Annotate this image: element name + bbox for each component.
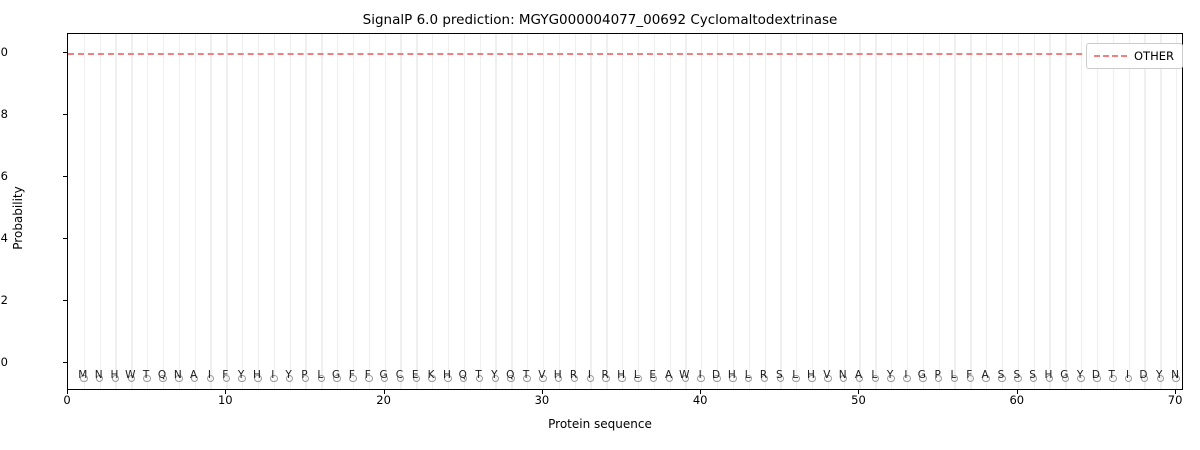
residue-letter: N: [839, 370, 847, 381]
residue-letter: T: [143, 370, 149, 381]
y-axis-label: Probability: [11, 118, 25, 318]
residue-letter: I: [208, 370, 211, 381]
residue-letter: Y: [238, 370, 244, 381]
page-title: SignalP 6.0 prediction: MGYG000004077_00…: [0, 12, 1200, 28]
residue-marker-layer: [68, 34, 1182, 389]
residue-letter: D: [712, 370, 720, 381]
residue-letter: H: [617, 370, 625, 381]
residue-letter: A: [190, 370, 197, 381]
residue-letter: L: [745, 370, 751, 381]
residue-letter: Q: [158, 370, 166, 381]
x-tick-label: 40: [693, 393, 708, 407]
residue-letter: W: [679, 370, 689, 381]
residue-letter: R: [570, 370, 577, 381]
residue-letter: L: [871, 370, 877, 381]
residue-letter: R: [760, 370, 767, 381]
residue-letter: H: [728, 370, 736, 381]
residue-letter: R: [602, 370, 609, 381]
residue-letter: N: [1171, 370, 1179, 381]
residue-letter: L: [792, 370, 798, 381]
residue-letter: L: [951, 370, 957, 381]
y-tick-label: 0.8: [0, 107, 8, 121]
y-tick-label: 1.0: [0, 45, 8, 59]
residue-letter: G: [380, 370, 388, 381]
residue-letter: S: [776, 370, 783, 381]
x-tick-mark: [1017, 390, 1018, 394]
y-tick-label: 0.0: [0, 355, 8, 369]
residue-letter: H: [554, 370, 562, 381]
x-tick-label: 60: [1009, 393, 1024, 407]
residue-letter: F: [349, 370, 355, 381]
residue-letter: D: [1139, 370, 1147, 381]
residue-letter: H: [111, 370, 119, 381]
residue-letter: M: [78, 370, 87, 381]
residue-letter: Y: [491, 370, 497, 381]
residue-letter: Y: [887, 370, 893, 381]
residue-letter: G: [918, 370, 926, 381]
residue-letter: T: [1109, 370, 1115, 381]
residue-letter: E: [412, 370, 419, 381]
legend[interactable]: OTHER: [1086, 43, 1183, 69]
x-tick-mark: [384, 390, 385, 394]
residue-letter: I: [699, 370, 702, 381]
residue-letter: G: [1060, 370, 1068, 381]
residue-letter: T: [475, 370, 481, 381]
residue-letter: Q: [506, 370, 514, 381]
residue-letter: T: [523, 370, 529, 381]
x-tick-label: 10: [218, 393, 233, 407]
residue-letter: H: [253, 370, 261, 381]
residue-letter: I: [588, 370, 591, 381]
residue-letter: L: [317, 370, 323, 381]
residue-letter: S: [998, 370, 1005, 381]
y-tick-label: 0.4: [0, 231, 8, 245]
residue-letter: I: [1126, 370, 1129, 381]
residue-letter: K: [428, 370, 435, 381]
residue-letter: I: [271, 370, 274, 381]
residue-letter: H: [1044, 370, 1052, 381]
signalp-prediction-figure: SignalP 6.0 prediction: MGYG000004077_00…: [0, 0, 1200, 450]
legend-label-other: OTHER: [1134, 49, 1174, 63]
x-tick-mark: [225, 390, 226, 394]
x-tick-label: 50: [851, 393, 866, 407]
residue-letter: S: [1029, 370, 1036, 381]
residue-letter: A: [982, 370, 989, 381]
residue-letter: W: [125, 370, 135, 381]
residue-letter: P: [301, 370, 307, 381]
residue-letter: C: [396, 370, 403, 381]
residue-letter: I: [904, 370, 907, 381]
residue-letter: P: [934, 370, 940, 381]
residue-letter: F: [966, 370, 972, 381]
x-tick-label: 30: [535, 393, 550, 407]
residue-letter: D: [1092, 370, 1100, 381]
residue-letter: Y: [1156, 370, 1162, 381]
residue-letter: Y: [1077, 370, 1083, 381]
x-tick-mark: [542, 390, 543, 394]
x-tick-label: 0: [63, 393, 70, 407]
residue-letter: N: [95, 370, 103, 381]
residue-letter: L: [634, 370, 640, 381]
residue-letter: V: [823, 370, 830, 381]
residue-letter: F: [365, 370, 371, 381]
y-tick-label: 0.2: [0, 293, 8, 307]
residue-letter: F: [222, 370, 228, 381]
residue-letter: H: [443, 370, 451, 381]
x-tick-mark: [1175, 390, 1176, 394]
residue-letter: Q: [459, 370, 467, 381]
x-tick-mark: [67, 390, 68, 394]
residue-letter: N: [174, 370, 182, 381]
x-tick-mark: [858, 390, 859, 394]
x-tick-mark: [700, 390, 701, 394]
residue-letter: A: [855, 370, 862, 381]
x-tick-label: 70: [1168, 393, 1183, 407]
x-tick-label: 20: [376, 393, 391, 407]
plot-area: [67, 33, 1183, 390]
residue-letter: Y: [285, 370, 291, 381]
legend-swatch-other: [1094, 55, 1127, 57]
x-axis-label: Protein sequence: [0, 417, 1200, 431]
residue-letter: V: [538, 370, 545, 381]
residue-letter: E: [649, 370, 656, 381]
residue-letter: G: [332, 370, 340, 381]
residue-letter: A: [665, 370, 672, 381]
residue-letter: H: [807, 370, 815, 381]
y-tick-label: 0.6: [0, 169, 8, 183]
residue-letter: S: [1013, 370, 1020, 381]
